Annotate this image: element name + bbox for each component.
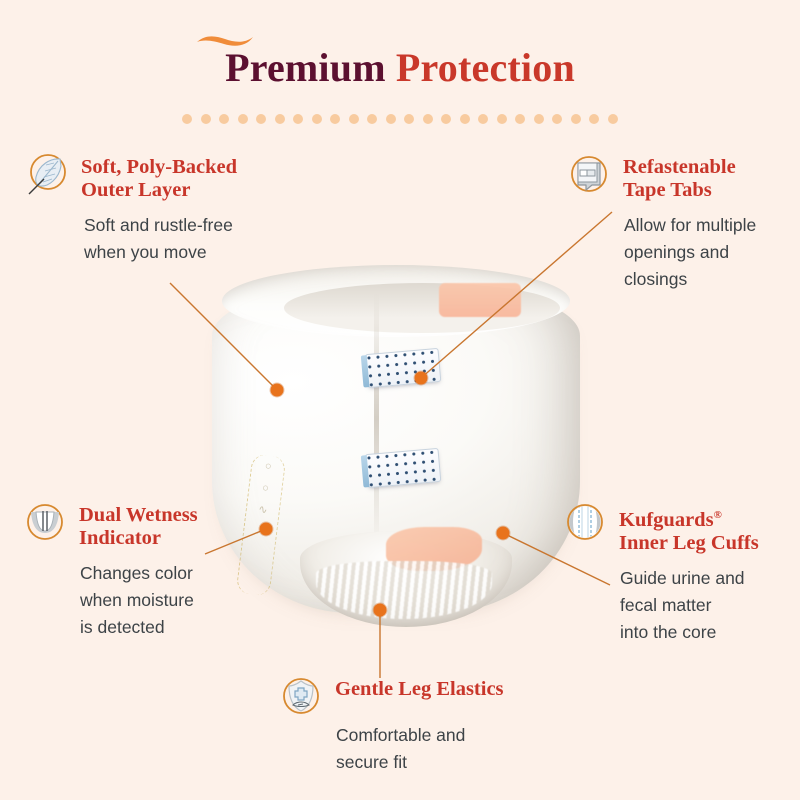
feature-kufguards-inner-leg-cuffs: Kufguards®Inner Leg Cuffs Guide urine an… <box>562 504 800 646</box>
tape-tab-upper <box>365 348 442 388</box>
feature-soft-outer-layer: Soft, Poly-Backed Outer Layer Soft and r… <box>24 156 294 266</box>
feature-body: Changes color when moisture is detected <box>80 560 272 641</box>
feature-refastenable-tape-tabs: Refastenable Tape Tabs Allow for multipl… <box>566 156 796 293</box>
registered-mark: ® <box>714 509 722 521</box>
callout-dot-soft[interactable] <box>271 384 284 397</box>
callout-dot-kufguards[interactable] <box>497 527 510 540</box>
feature-title: Kufguards®Inner Leg Cuffs <box>619 504 759 555</box>
feature-body: Comfortable and secure fit <box>336 722 578 776</box>
page-title: Premium Protection <box>0 44 800 91</box>
feature-title: Gentle Leg Elastics <box>335 678 504 701</box>
feature-body: Allow for multiple openings and closings <box>624 212 796 293</box>
title-premium: Premium <box>225 45 386 90</box>
tape-tab-icon <box>566 152 612 198</box>
brief-inner-core-top <box>439 283 521 317</box>
feature-gentle-leg-elastics: Gentle Leg Elastics Comfortable and secu… <box>278 678 578 776</box>
dotted-divider <box>182 113 618 125</box>
kufguards-subtitle: Inner Leg Cuffs <box>619 532 759 554</box>
feather-icon <box>24 152 70 198</box>
feature-dual-wetness-indicator: Dual Wetness Indicator Changes color whe… <box>22 504 272 641</box>
feature-body: Guide urine and fecal matter into the co… <box>620 565 800 646</box>
feature-title: Soft, Poly-Backed Outer Layer <box>81 156 237 202</box>
tape-tab-lower <box>365 448 442 488</box>
feature-title: Dual Wetness Indicator <box>79 504 198 550</box>
feature-body: Soft and rustle-free when you move <box>84 212 294 266</box>
shield-hand-icon <box>278 674 324 720</box>
feature-title: Refastenable Tape Tabs <box>623 156 736 202</box>
brief-center-seam <box>374 293 379 545</box>
callout-dot-leg-elastics[interactable] <box>374 604 387 617</box>
leg-cuff-icon <box>562 500 608 546</box>
title-protection: Protection <box>396 45 575 90</box>
callout-dot-tape[interactable] <box>415 372 428 385</box>
infographic-canvas: Premium Protection ○○∿∴ <box>0 0 800 800</box>
kufguards-word: Kufguards <box>619 509 714 531</box>
wetness-indicator-icon <box>22 500 68 546</box>
